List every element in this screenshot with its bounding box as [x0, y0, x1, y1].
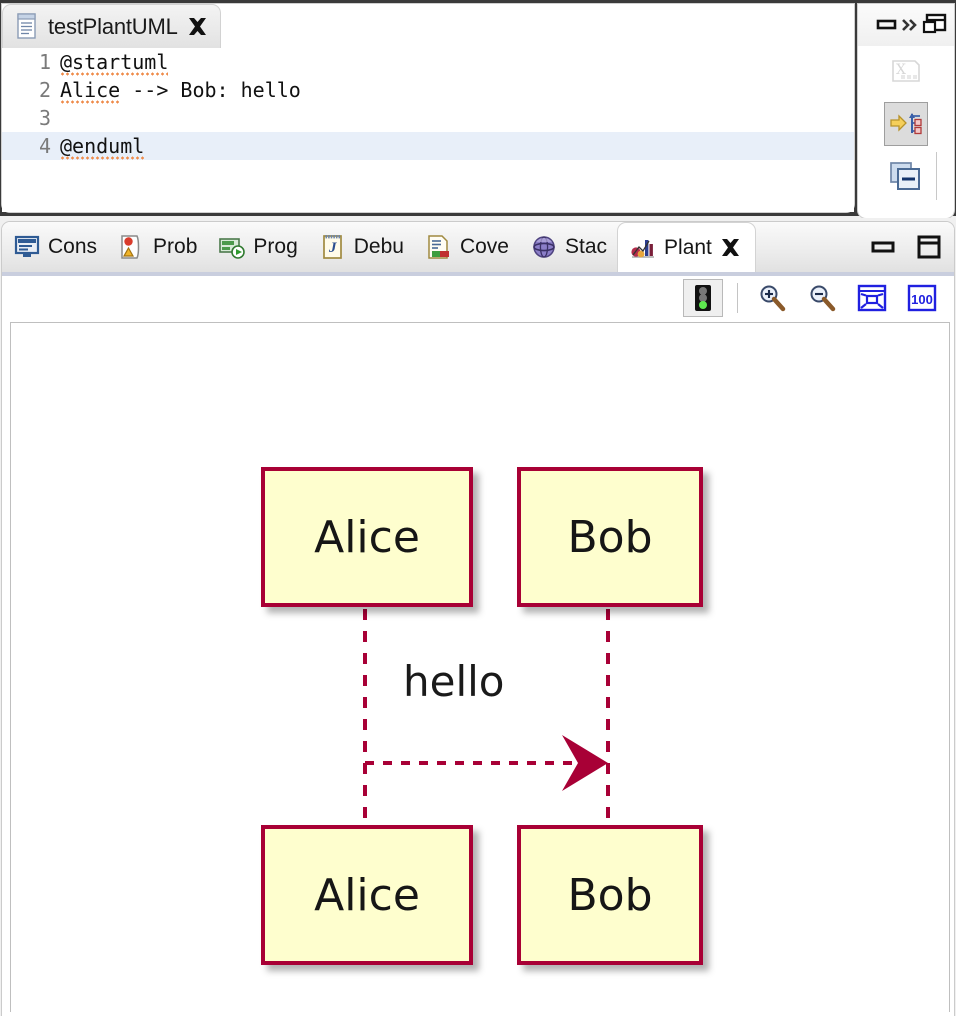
view-tab-cove[interactable]: Cove — [414, 222, 519, 272]
participant-label: Alice — [314, 512, 420, 563]
collapse-all-button[interactable] — [884, 154, 928, 198]
participant-label: Bob — [567, 512, 652, 563]
view-tab-cons[interactable]: Cons — [2, 222, 107, 272]
maximize-button[interactable] — [916, 234, 942, 260]
view-tab-debu[interactable]: JDebu — [308, 222, 414, 272]
editor-tab-label: testPlantUML — [48, 14, 178, 40]
code-editor[interactable]: 1@startuml2Alice --> Bob: hello34@enduml — [2, 48, 854, 212]
editor-tab-testplantuml[interactable]: testPlantUML — [2, 4, 221, 48]
restore-icon[interactable] — [922, 12, 948, 38]
view-tab-label: Prob — [153, 235, 197, 259]
zoom-out-icon — [807, 283, 837, 313]
code-line-text: @startuml — [60, 50, 168, 74]
zoom-out-button[interactable] — [802, 279, 842, 317]
view-tab-label: Plant — [664, 236, 712, 260]
line-number: 4 — [2, 134, 60, 158]
outline-toolbar: X — [858, 50, 954, 198]
bottom-view-shell: ConsProbProgJDebuCoveStacPlant 100 Alice… — [2, 222, 954, 1016]
editor-area: testPlantUML 1@startuml2Alice --> Bob: h… — [0, 0, 856, 216]
eclipse-workbench: testPlantUML 1@startuml2Alice --> Bob: h… — [0, 0, 956, 1016]
outline-view-area: X — [856, 0, 956, 216]
view-tab-label: Cove — [460, 235, 509, 259]
code-line[interactable]: 2Alice --> Bob: hello — [2, 76, 854, 104]
zoom-100-icon: 100 — [907, 283, 937, 313]
message-label: hello — [403, 657, 505, 706]
plantuml-canvas[interactable]: AliceBobAliceBobhello — [10, 322, 950, 1012]
view-tab-label: Stac — [565, 235, 607, 259]
code-line[interactable]: 3 — [2, 104, 854, 132]
fit-to-window-button[interactable] — [852, 279, 892, 317]
zoom-in-icon — [757, 283, 787, 313]
collapse-all-icon — [889, 160, 923, 192]
view-window-buttons — [870, 222, 942, 272]
view-tab-label: Cons — [48, 235, 97, 259]
stack-icon — [531, 234, 557, 260]
console-icon — [14, 234, 40, 260]
participant-label: Alice — [314, 870, 420, 921]
link-with-editor-icon — [890, 109, 922, 139]
code-line[interactable]: 4@enduml — [2, 132, 854, 160]
outline-toolbar-divider — [936, 152, 937, 200]
view-tabbar: ConsProbProgJDebuCoveStacPlant — [2, 222, 954, 272]
view-tab-plant[interactable]: Plant — [617, 222, 756, 272]
participant-label: Bob — [567, 870, 652, 921]
toolbar-separator — [737, 283, 738, 313]
bottom-view-stack: ConsProbProgJDebuCoveStacPlant 100 Alice… — [0, 218, 956, 1016]
outline-header — [858, 4, 954, 46]
participant-box: Alice — [263, 469, 471, 605]
sort-filter-icon: X — [889, 57, 923, 87]
view-tab-prog[interactable]: Prog — [207, 222, 307, 272]
plantuml-view-toolbar: 100 — [2, 276, 954, 320]
fit-to-window-icon — [857, 283, 887, 313]
progress-icon — [219, 234, 245, 260]
uml-sequence-diagram: AliceBobAliceBobhello — [11, 323, 950, 1012]
close-icon[interactable] — [720, 237, 741, 258]
debug-icon: J — [320, 234, 346, 260]
editor-shell: testPlantUML 1@startuml2Alice --> Bob: h… — [2, 4, 854, 212]
view-tab-stac[interactable]: Stac — [519, 222, 617, 272]
minimize-icon[interactable] — [876, 15, 898, 35]
participant-box: Alice — [263, 827, 471, 963]
minimize-button[interactable] — [870, 236, 896, 258]
view-tab-label: Debu — [354, 235, 404, 259]
coverage-icon — [426, 234, 452, 260]
view-tab-prob[interactable]: Prob — [107, 222, 207, 272]
link-with-editor-button[interactable] — [884, 102, 928, 146]
outline-shell: X — [858, 4, 954, 218]
zoom-in-button[interactable] — [752, 279, 792, 317]
code-line-text: @enduml — [60, 134, 144, 158]
editor-tabbar: testPlantUML — [2, 4, 854, 48]
problems-icon — [119, 234, 145, 260]
participant-box: Bob — [519, 827, 701, 963]
chevron-double-right-icon[interactable] — [901, 15, 919, 35]
code-line[interactable]: 1@startuml — [2, 48, 854, 76]
participant-box: Bob — [519, 469, 701, 605]
file-icon — [17, 13, 39, 40]
line-number: 2 — [2, 78, 60, 102]
traffic-light-toggle — [688, 283, 718, 313]
traffic-light-toggle[interactable] — [683, 279, 723, 317]
svg-text:100: 100 — [911, 292, 933, 307]
code-line-text: Alice --> Bob: hello — [60, 78, 301, 102]
close-icon[interactable] — [187, 16, 208, 37]
spellcheck-squiggle — [60, 156, 144, 160]
line-number: 1 — [2, 50, 60, 74]
plantuml-icon — [630, 235, 656, 261]
sort-filter-icon-button: X — [884, 50, 928, 94]
line-number: 3 — [2, 106, 60, 130]
view-tab-label: Prog — [253, 235, 297, 259]
zoom-100-button[interactable]: 100 — [902, 279, 942, 317]
svg-text:J: J — [328, 240, 337, 256]
